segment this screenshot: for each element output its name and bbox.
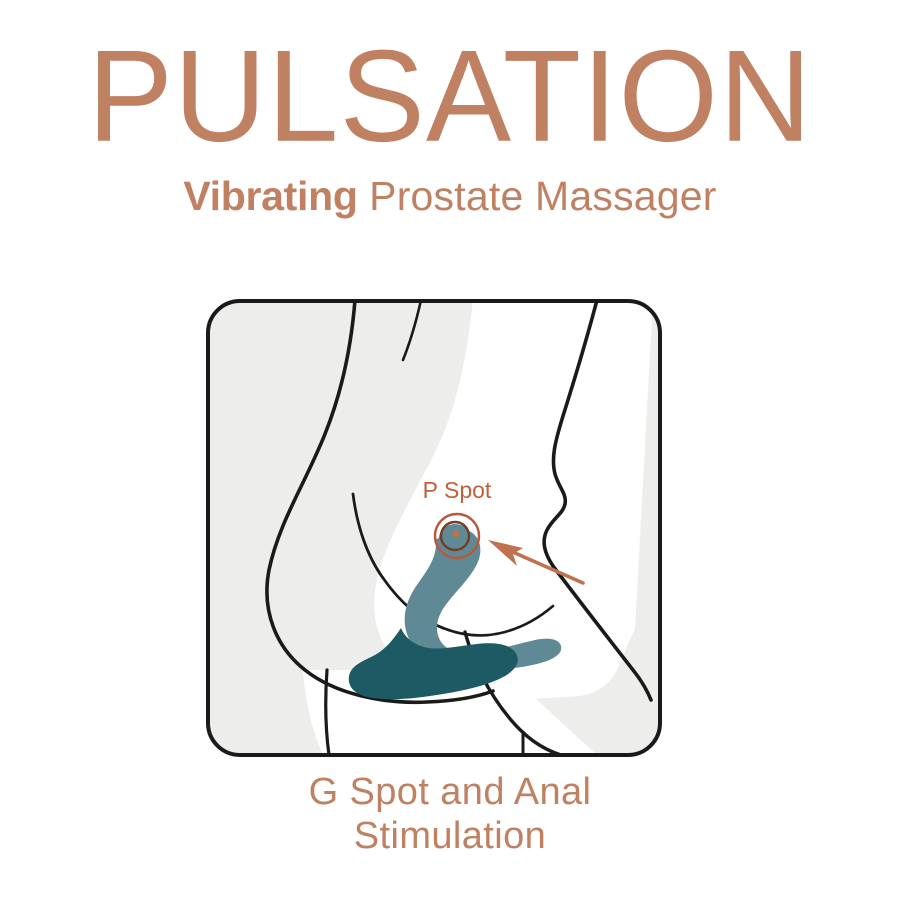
p-spot-label: P Spot bbox=[423, 477, 492, 503]
p-spot-center-dot bbox=[452, 530, 459, 537]
anatomy-illustration-panel: P Spot bbox=[205, 298, 663, 758]
page-title-text: PULSATION bbox=[88, 29, 813, 169]
product-infographic: PULSATION Vibrating Prostate Massager bbox=[0, 0, 900, 900]
caption: G Spot and Anal Stimulation bbox=[0, 770, 900, 858]
subtitle-rest: Prostate Massager bbox=[358, 173, 717, 219]
page-subtitle: Vibrating Prostate Massager bbox=[0, 172, 900, 220]
caption-line-2: Stimulation bbox=[0, 814, 900, 858]
page-title: PULSATION bbox=[0, 29, 900, 172]
subtitle-bold-word: Vibrating bbox=[183, 173, 357, 219]
caption-line-1: G Spot and Anal bbox=[0, 770, 900, 814]
